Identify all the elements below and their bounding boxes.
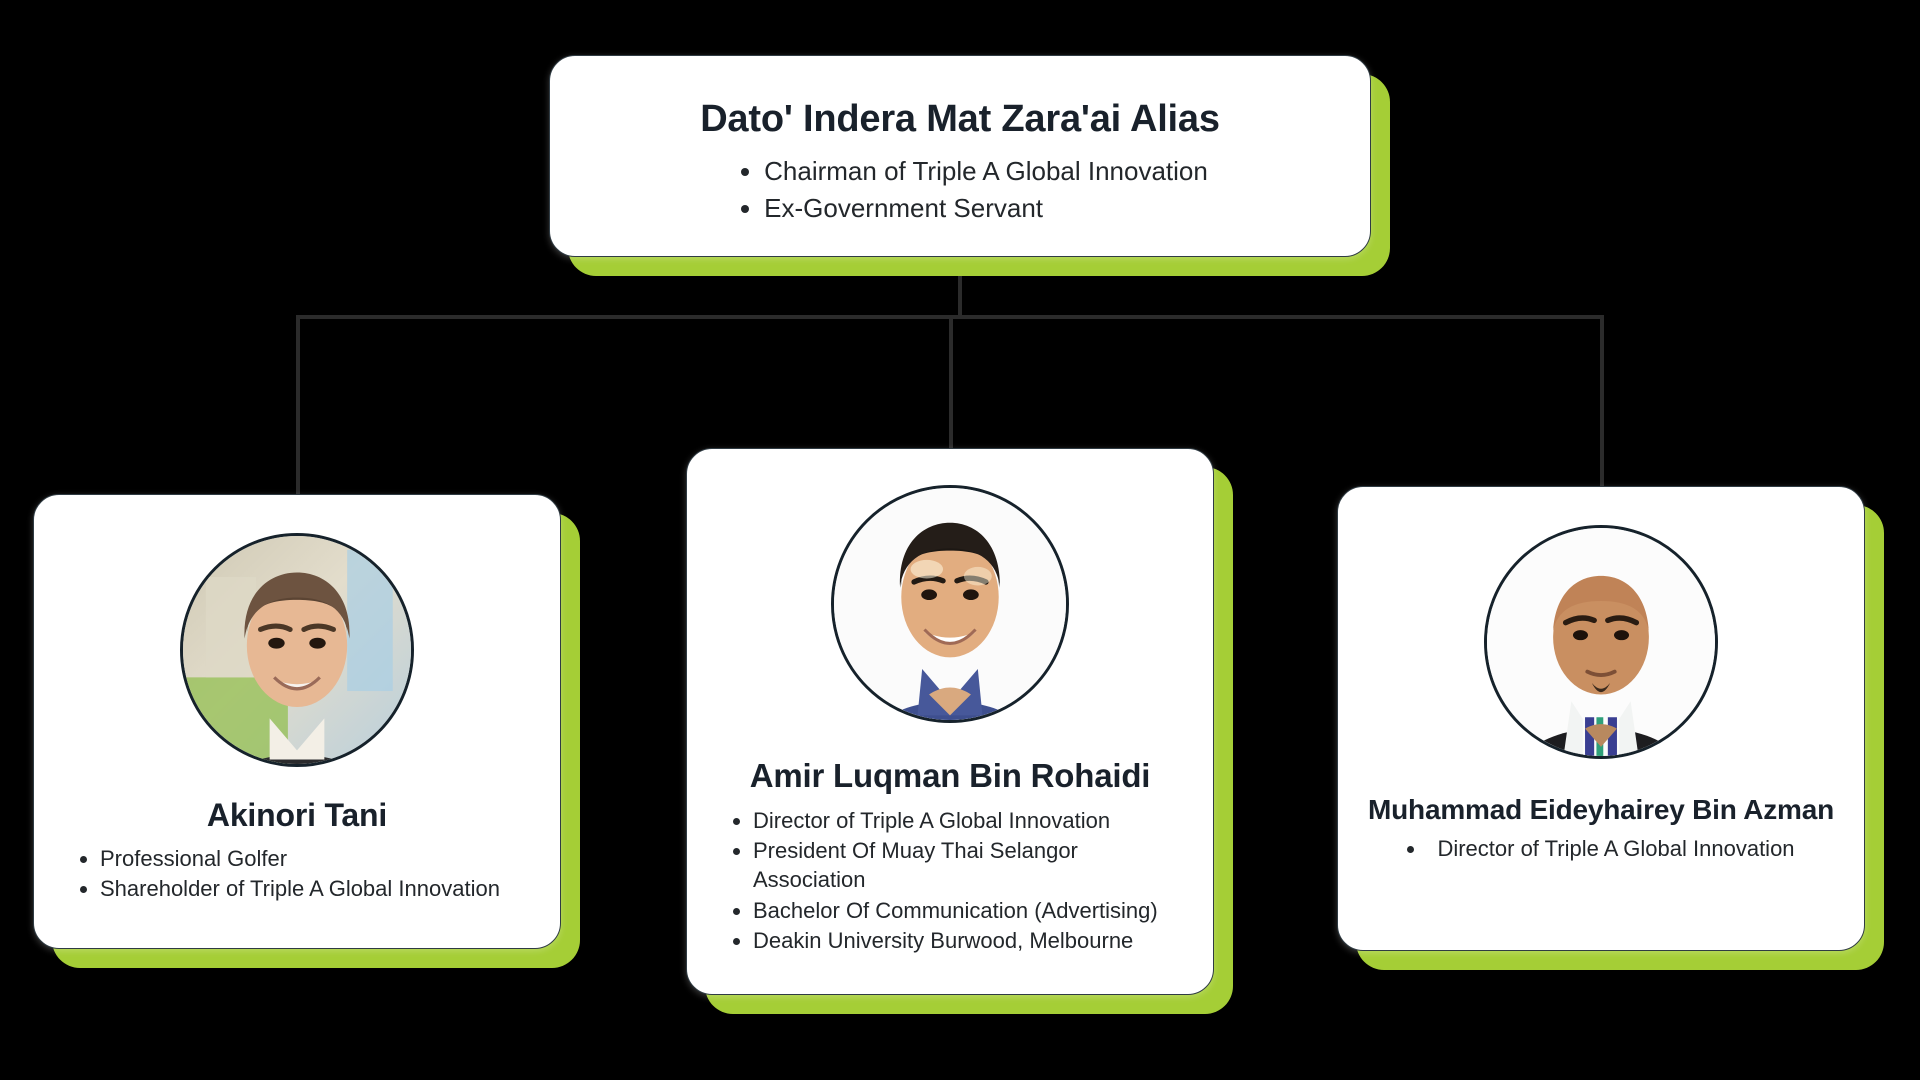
person-credentials-list: Professional Golfer Shareholder of Tripl…	[58, 844, 536, 905]
person-credentials-list: Chairman of Triple A Global Innovation E…	[712, 154, 1208, 229]
avatar	[1484, 525, 1718, 759]
person-name: Akinori Tani	[58, 797, 536, 835]
person-photo-icon	[834, 488, 1066, 720]
avatar	[180, 533, 414, 767]
person-name: Muhammad Eideyhairey Bin Azman	[1358, 793, 1844, 826]
org-card[interactable]: Amir Luqman Bin Rohaidi Director of Trip…	[686, 448, 1214, 995]
credential-item: Ex-Government Servant	[764, 191, 1208, 226]
org-card[interactable]: Muhammad Eideyhairey Bin Azman Director …	[1337, 486, 1865, 951]
avatar	[831, 485, 1069, 723]
org-node-root[interactable]: Dato' Indera Mat Zara'ai Alias Chairman …	[549, 55, 1371, 257]
person-name: Amir Luqman Bin Rohaidi	[711, 757, 1189, 796]
org-node-amir-luqman-bin-rohaidi[interactable]: Amir Luqman Bin Rohaidi Director of Trip…	[686, 448, 1214, 995]
credential-item: Professional Golfer	[100, 844, 536, 873]
org-card[interactable]: Dato' Indera Mat Zara'ai Alias Chairman …	[549, 55, 1371, 257]
person-name: Dato' Indera Mat Zara'ai Alias	[580, 97, 1340, 142]
credential-item: Director of Triple A Global Innovation	[1358, 834, 1844, 863]
credential-item: Chairman of Triple A Global Innovation	[764, 154, 1208, 189]
person-credentials-list: Director of Triple A Global Innovation P…	[711, 806, 1189, 956]
credential-item: Bachelor Of Communication (Advertising)	[753, 896, 1189, 925]
org-card[interactable]: Akinori Tani Professional Golfer Shareho…	[33, 494, 561, 949]
org-node-akinori-tani[interactable]: Akinori Tani Professional Golfer Shareho…	[33, 494, 561, 949]
person-credentials-list: Director of Triple A Global Innovation	[1358, 834, 1844, 864]
person-photo-icon	[1487, 528, 1715, 756]
credential-item: President Of Muay Thai Selangor Associat…	[753, 836, 1189, 895]
person-photo-icon	[183, 536, 411, 764]
credential-item: Shareholder of Triple A Global Innovatio…	[100, 874, 536, 903]
credential-item: Director of Triple A Global Innovation	[753, 806, 1189, 835]
org-chart-canvas: Dato' Indera Mat Zara'ai Alias Chairman …	[0, 0, 1920, 1080]
connector-branch-middle	[949, 315, 953, 449]
credential-item: Deakin University Burwood, Melbourne	[753, 926, 1189, 955]
org-node-muhammad-eideyhairey-bin-azman[interactable]: Muhammad Eideyhairey Bin Azman Director …	[1337, 486, 1865, 951]
connector-branch-right	[1600, 315, 1604, 487]
connector-branch-left	[296, 315, 300, 495]
